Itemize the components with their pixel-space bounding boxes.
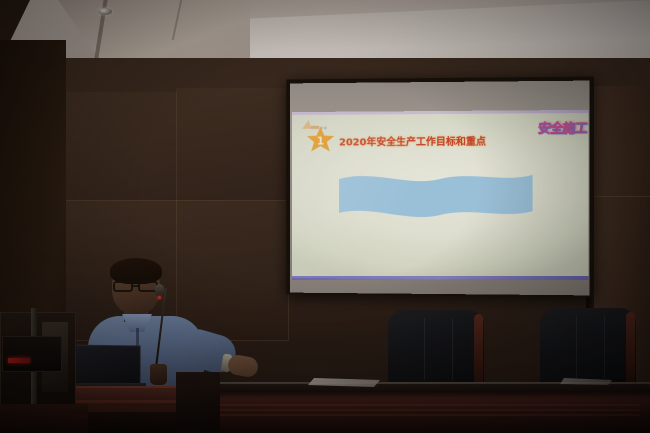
av-device-face — [2, 336, 62, 372]
chair-seam — [576, 316, 577, 378]
glasses-icon — [112, 281, 160, 292]
section-number: 1 — [306, 126, 335, 156]
slide-bottom-band — [292, 276, 589, 280]
slide-banner-heading: 2020年安全生产工作目标和重点 — [339, 133, 486, 149]
cup — [150, 364, 167, 385]
downlight-icon — [98, 8, 112, 15]
chair-left-trim — [474, 314, 483, 386]
wall-panel — [66, 92, 177, 201]
right-wall-seam — [592, 196, 650, 197]
chair-right-trim — [626, 312, 635, 384]
microphone-led — [158, 296, 161, 299]
av-rack-base — [0, 404, 88, 433]
projected-slide: 安全施工 1 2020年安全生产工作目标和重点 — [292, 110, 589, 280]
slide-corner-title: 安全施工 — [536, 117, 588, 137]
table-end-panel — [176, 372, 220, 433]
slide-banner-shape — [337, 167, 535, 223]
meeting-room-photo: 安全施工 1 2020年安全生产工作目标和重点 — [0, 0, 650, 433]
chair-seam — [604, 316, 605, 378]
chair-seam — [424, 318, 425, 380]
table-panel-grooves — [210, 404, 640, 418]
av-device-led-display — [8, 358, 30, 363]
wall-panel — [176, 88, 289, 201]
chair-seam — [452, 318, 453, 380]
